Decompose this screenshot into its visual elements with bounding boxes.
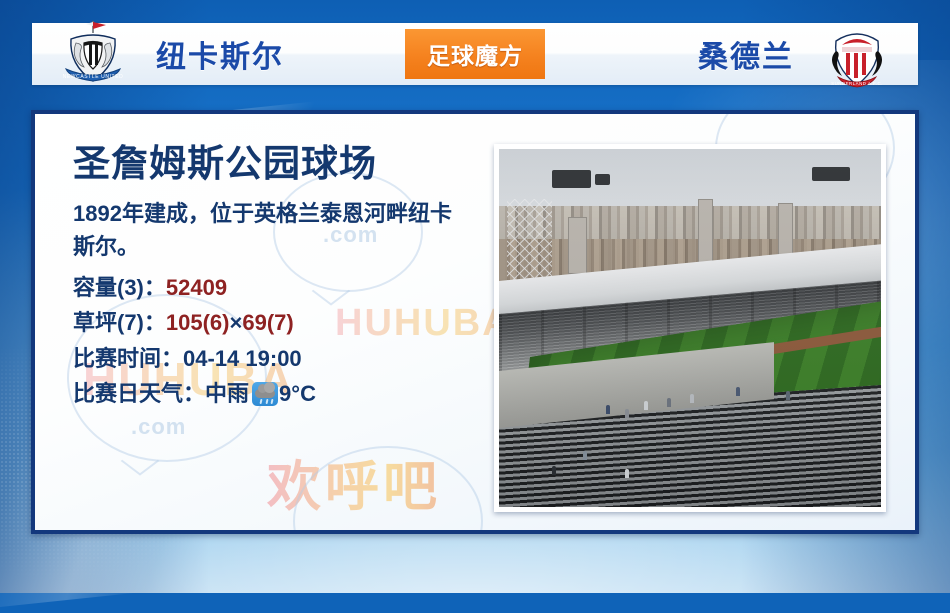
pitch-label: 草坪(7)： [73,305,166,341]
match-time-label: 比赛时间： [73,341,183,377]
svg-text:SUNDERLAND A.F.C.: SUNDERLAND A.F.C. [831,81,883,86]
away-team-block[interactable]: 桑德兰 SUNDERLAND A.F.C. [545,23,918,85]
stadium-info-block: 圣詹姆斯公园球场 1892年建成，位于英格兰泰恩河畔纽卡斯尔。 容量(3)： 5… [73,144,473,412]
match-weather-row: 比赛日天气： 中雨 9°C [73,376,473,412]
newcastle-united-crest-icon: NEWCASTLE UNITED [56,17,130,91]
stadium-attribute-rows: 容量(3)： 52409 草坪(7)： 105(6) × 69(7) 比赛时间：… [73,270,473,413]
site-logo-text: 足球魔方 [427,37,523,71]
photo-overlay [499,149,881,507]
home-team-block[interactable]: NEWCASTLE UNITED 纽卡斯尔 [32,23,405,85]
stadium-title: 圣詹姆斯公园球场 [73,144,473,185]
weather-label: 比赛日天气： [73,376,205,412]
temperature-value: 9°C [279,376,316,412]
match-time-row: 比赛时间： 04-14 19:00 [73,341,473,377]
pitch-width-value: 69(7) [242,305,293,341]
svg-text:NEWCASTLE UNITED: NEWCASTLE UNITED [63,74,124,80]
watermark-brand-cn: 欢呼吧 [267,442,441,521]
site-logo[interactable]: 足球魔方 [405,29,545,79]
watermark-dotcom-left: .com [131,414,186,440]
rain-cloud-icon [252,382,278,406]
pitch-length-value: 105(6) [166,305,230,341]
weather-value: 中雨 [205,376,249,412]
match-time-value: 04-14 19:00 [183,341,302,377]
pitch-times-symbol: × [229,305,242,341]
home-team-name: 纽卡斯尔 [156,32,284,76]
pitch-size-row: 草坪(7)： 105(6) × 69(7) [73,305,473,341]
capacity-row: 容量(3)： 52409 [73,270,473,306]
capacity-value: 52409 [166,270,227,306]
watermark-bubble-right [293,446,483,534]
stadium-info-card: HUHUBA .com .com 欢呼吧 HUHUBA 圣詹姆斯公园球场 189… [31,110,919,534]
away-team-name: 桑德兰 [698,32,794,76]
st-james-park-photo: NEWCASTLE UNITED [499,149,881,507]
match-header-bar: NEWCASTLE UNITED 纽卡斯尔 足球魔方 桑德兰 SUN [32,23,918,85]
sunderland-crest-icon: SUNDERLAND A.F.C. [820,17,894,91]
capacity-label: 容量(3)： [73,270,166,306]
stadium-photo-frame[interactable]: NEWCASTLE UNITED [494,144,886,512]
stadium-description: 1892年建成，位于英格兰泰恩河畔纽卡斯尔。 [73,197,453,264]
